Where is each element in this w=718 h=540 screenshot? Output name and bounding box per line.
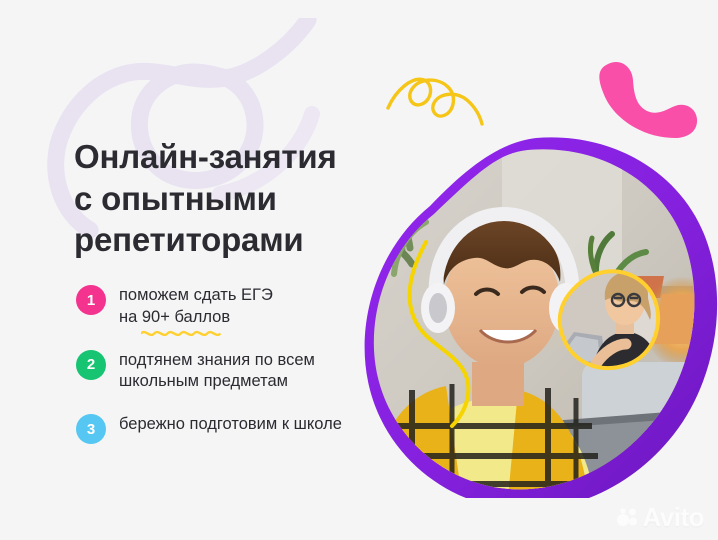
avito-label: Avito <box>642 504 704 530</box>
feature-1-line-1: поможем сдать ЕГЭ <box>119 285 273 307</box>
feature-text-1: поможем сдать ЕГЭ на 90+ баллов <box>119 284 273 329</box>
wavy-underline-icon <box>141 329 229 336</box>
student-photo-blob <box>352 126 718 498</box>
list-item: 1 поможем сдать ЕГЭ на 90+ баллов <box>76 284 396 329</box>
feature-badge-3: 3 <box>76 414 106 444</box>
promo-poster: Онлайн-занятия с опытными репетиторами 1… <box>0 0 718 540</box>
yellow-squiggle-top-decoration <box>384 62 504 134</box>
feature-1-highlight: 90+ баллов <box>142 307 230 329</box>
list-item: 2 подтянем знания по всем школьным предм… <box>76 349 396 394</box>
feature-1-line-2: на 90+ баллов <box>119 307 273 329</box>
page-title: Онлайн-занятия с опытными репетиторами <box>74 136 364 261</box>
feature-2-line-2: школьным предметам <box>119 371 315 393</box>
headline-line-2: с опытными <box>74 178 364 220</box>
feature-text-3: бережно подготовим к школе <box>119 413 342 436</box>
list-item: 3 бережно подготовим к школе <box>76 413 396 444</box>
feature-badge-2: 2 <box>76 350 106 380</box>
headline-line-1: Онлайн-занятия <box>74 136 364 178</box>
feature-badge-1: 1 <box>76 285 106 315</box>
headline-line-3: репетиторами <box>74 219 364 261</box>
avito-watermark: Avito <box>616 504 704 530</box>
feature-2-line-1: подтянем знания по всем <box>119 350 315 372</box>
feature-3-line-1: бережно подготовим к школе <box>119 414 342 436</box>
feature-1-highlight-text: 90+ баллов <box>142 308 230 326</box>
feature-list: 1 поможем сдать ЕГЭ на 90+ баллов 2 подт… <box>76 284 396 444</box>
avito-dots-icon <box>616 506 638 528</box>
feature-text-2: подтянем знания по всем школьным предмет… <box>119 349 315 394</box>
feature-1-prefix: на <box>119 308 142 326</box>
